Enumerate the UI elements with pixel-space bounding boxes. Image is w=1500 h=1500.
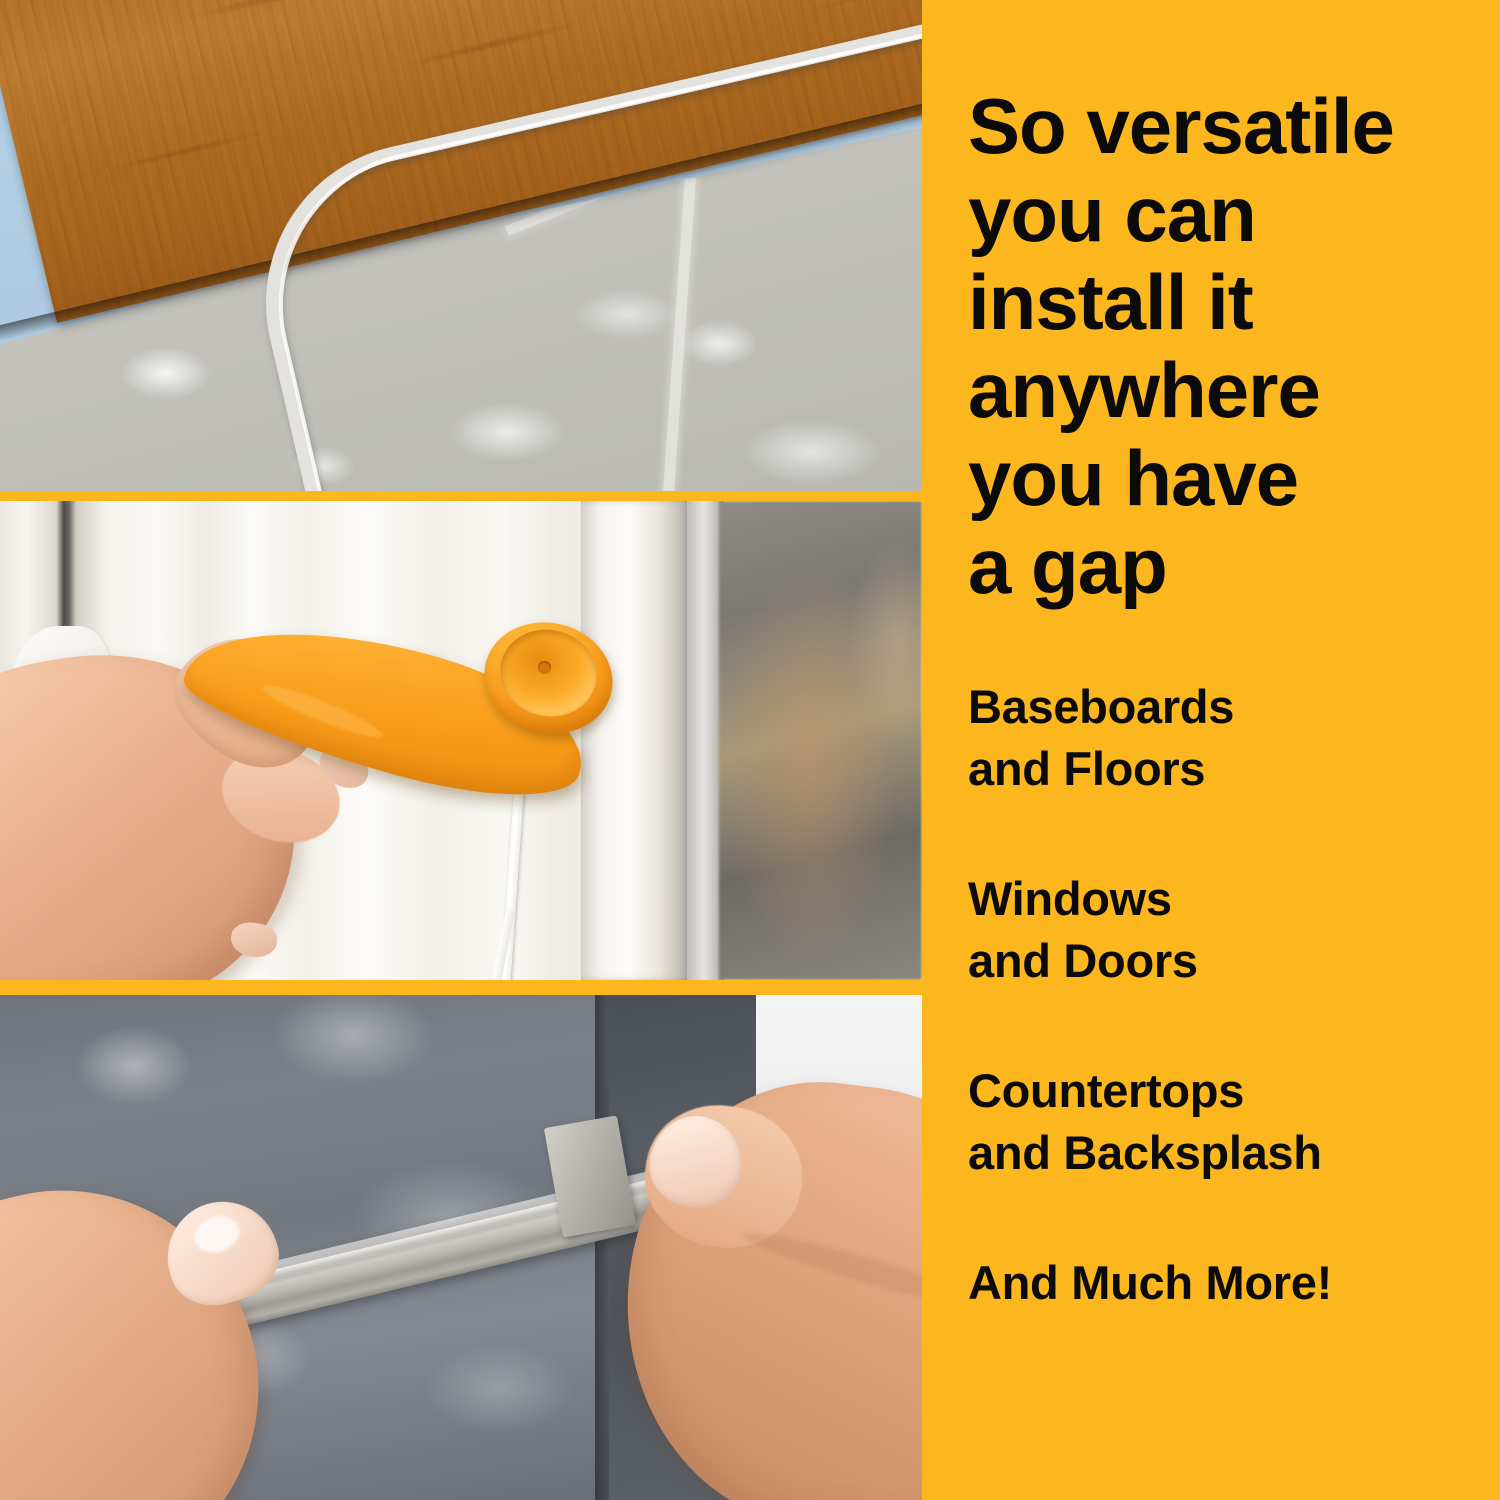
photo-divider-1 — [0, 491, 922, 501]
list-item: Baseboards and Floors — [968, 676, 1488, 800]
headline-line-4: anywhere — [968, 346, 1488, 434]
photo-backsplash-strip — [0, 995, 922, 1500]
list-item-line: and Backsplash — [968, 1122, 1488, 1184]
headline: So versatile you can install it anywhere… — [968, 82, 1488, 610]
tool-nozzle-hole — [538, 661, 552, 674]
photo-baseboard-tile — [0, 0, 922, 491]
list-item: And Much More! — [968, 1252, 1488, 1314]
list-item-line: Windows — [968, 868, 1488, 930]
photo-divider-2 — [0, 980, 922, 995]
product-infographic: So versatile you can install it anywhere… — [0, 0, 1500, 1500]
list-item-line: and Floors — [968, 738, 1488, 800]
list-item: Windows and Doors — [968, 868, 1488, 992]
headline-line-3: install it — [968, 258, 1488, 346]
text-panel: So versatile you can install it anywhere… — [922, 0, 1500, 1500]
list-item-line: And Much More! — [968, 1252, 1488, 1314]
list-item-line: Countertops — [968, 1060, 1488, 1122]
list-item-line: and Doors — [968, 930, 1488, 992]
headline-line-6: a gap — [968, 522, 1488, 610]
photo-column — [0, 0, 922, 1500]
list-item-line: Baseboards — [968, 676, 1488, 738]
photo-tool-window-frame — [0, 501, 922, 980]
use-case-list: Baseboards and Floors Windows and Doors … — [968, 676, 1488, 1314]
window-glass-reflection — [719, 501, 922, 980]
list-item: Countertops and Backsplash — [968, 1060, 1488, 1184]
window-jamb — [581, 501, 692, 980]
headline-line-2: you can — [968, 170, 1488, 258]
headline-line-5: you have — [968, 434, 1488, 522]
headline-line-1: So versatile — [968, 82, 1488, 170]
